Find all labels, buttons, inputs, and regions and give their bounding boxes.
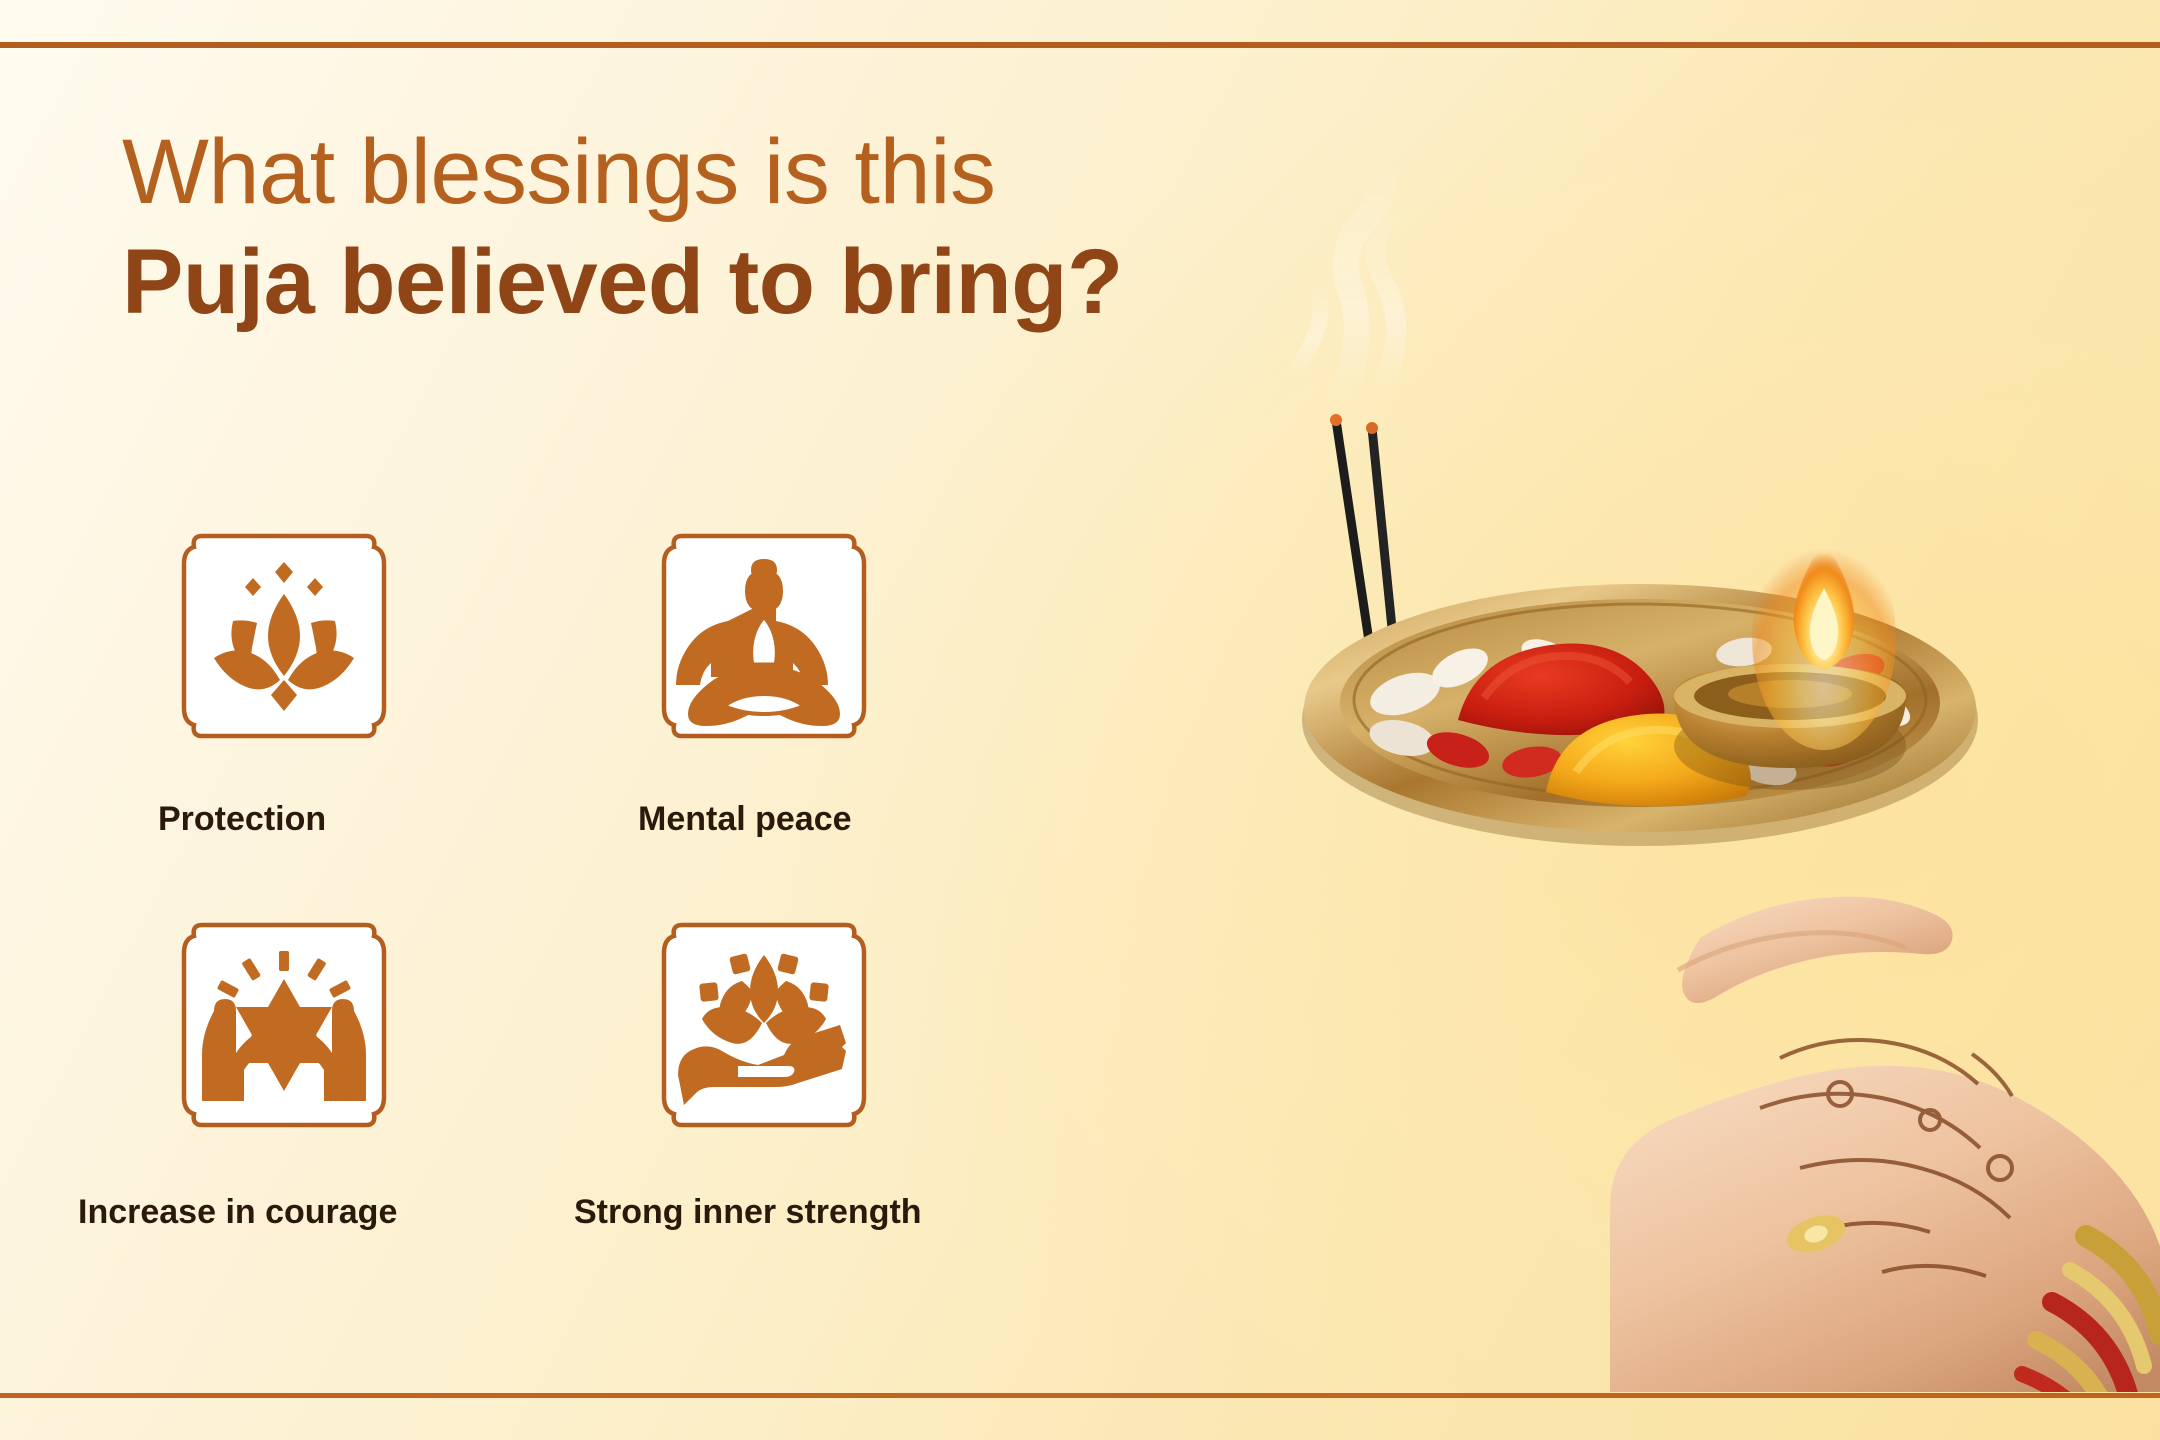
- benefit-item-mental-peace[interactable]: Mental peace: [638, 510, 1118, 839]
- benefit-label: Mental peace: [638, 800, 1118, 839]
- benefit-item-increase-in-courage[interactable]: Increase in courage: [158, 899, 638, 1232]
- benefit-card-frame: [158, 510, 410, 762]
- benefit-card-frame: [158, 899, 410, 1151]
- puja-thali-photo: [1140, 48, 2160, 1392]
- diya-flame: [1752, 526, 1896, 750]
- benefit-label: Increase in courage: [78, 1193, 638, 1232]
- benefits-row-1: Protection: [158, 510, 1158, 839]
- benefits-grid: Protection: [158, 510, 1158, 1232]
- benefit-card-frame: [638, 899, 890, 1151]
- slide-canvas: What blessings is this Puja believed to …: [0, 0, 2160, 1440]
- benefit-card-frame: [638, 510, 890, 762]
- benefit-label: Strong inner strength: [574, 1193, 1118, 1232]
- incense-smoke: [1290, 160, 1400, 408]
- benefit-item-protection[interactable]: Protection: [158, 510, 638, 839]
- benefit-item-strong-inner-strength[interactable]: Strong inner strength: [638, 899, 1118, 1232]
- bottom-divider-rule: [0, 1393, 2160, 1398]
- benefits-row-2: Increase in courage: [158, 899, 1158, 1232]
- benefit-label: Protection: [158, 800, 638, 839]
